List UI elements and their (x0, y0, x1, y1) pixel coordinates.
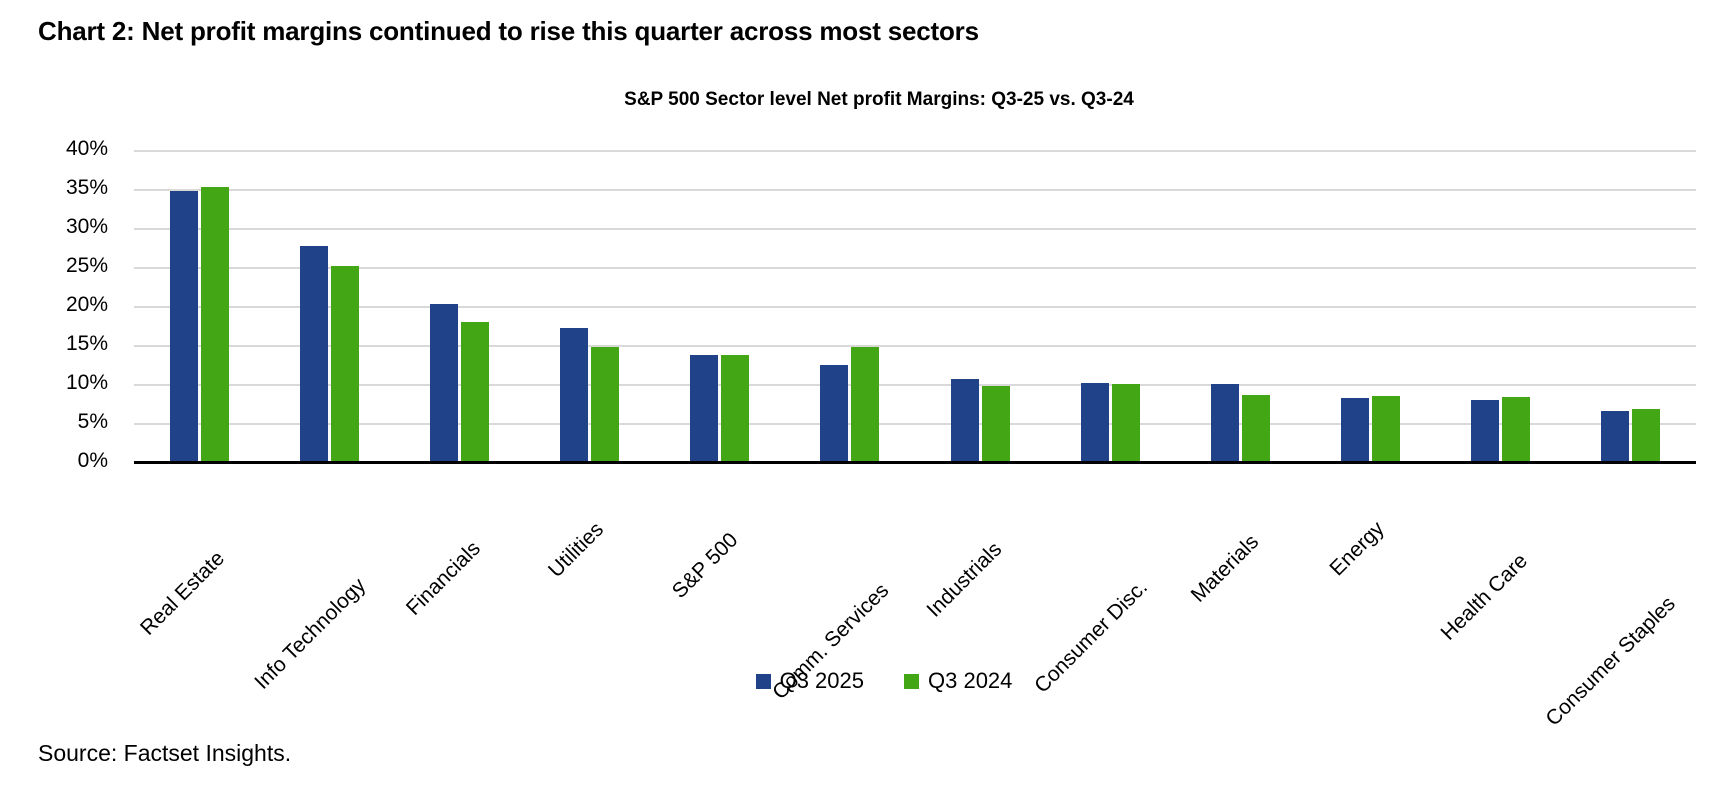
x-axis-line (134, 461, 1696, 464)
legend-swatch-icon (756, 674, 771, 689)
bar-group (1566, 150, 1696, 462)
bar (1112, 384, 1140, 462)
bar-group (134, 150, 264, 462)
bar (1502, 397, 1530, 462)
x-axis-label-cell: S&P 500 (655, 466, 785, 646)
y-axis-tick-label: 25% (13, 254, 108, 278)
x-axis-label-text: Industrials (922, 538, 1007, 623)
x-axis-labels: Real EstateInfo TechnologyFinancialsUtil… (134, 466, 1696, 646)
bar (1471, 400, 1499, 462)
x-axis-label-cell: Energy (1306, 466, 1436, 646)
x-axis-label-cell: Real Estate (134, 466, 264, 646)
bar (820, 365, 848, 462)
x-axis-label-cell: Comm. Services (785, 466, 915, 646)
x-axis-label-text: Materials (1187, 530, 1264, 607)
x-axis-label-text: Energy (1325, 517, 1389, 581)
bar-group (1045, 150, 1175, 462)
bar-group (785, 150, 915, 462)
x-axis-label-cell: Consumer Disc. (1045, 466, 1175, 646)
bar-group (915, 150, 1045, 462)
bar (951, 379, 979, 462)
y-axis-tick-label: 40% (13, 137, 108, 161)
plot-area: 40%35%30%25%20%15%10%5%0% (134, 150, 1696, 462)
bar-group (264, 150, 394, 462)
bar (1601, 411, 1629, 462)
bar-group (394, 150, 524, 462)
page-headline: Chart 2: Net profit margins continued to… (38, 16, 979, 47)
legend-label: Q3 2025 (780, 668, 864, 694)
y-axis-tick-label: 5% (13, 410, 108, 434)
y-axis-tick-label: 10% (13, 371, 108, 395)
bar (1632, 409, 1660, 462)
y-axis-tick-label: 20% (13, 293, 108, 317)
bar (721, 355, 749, 462)
bar (201, 187, 229, 462)
legend-item[interactable]: Q3 2024 (904, 668, 1012, 694)
bar-group (655, 150, 785, 462)
bar (1211, 384, 1239, 462)
x-axis-label-text: S&P 500 (668, 528, 743, 603)
bar (591, 347, 619, 462)
bar (560, 328, 588, 462)
chart-legend: Q3 2025Q3 2024 (0, 668, 1718, 694)
x-axis-label-cell: Info Technology (264, 466, 394, 646)
bar (331, 266, 359, 462)
bar (1341, 398, 1369, 462)
x-axis-label: Utilities (591, 470, 656, 535)
x-axis-label: Consumer Staples (1664, 470, 1718, 609)
source-note: Source: Factset Insights. (38, 740, 291, 767)
x-axis-label-text: Utilities (544, 518, 609, 583)
bar-group (525, 150, 655, 462)
bar (1081, 383, 1109, 462)
x-axis-label-text: Financials (402, 537, 486, 621)
bar-group (1436, 150, 1566, 462)
legend-item[interactable]: Q3 2025 (756, 668, 864, 694)
x-axis-label-cell: Health Care (1436, 466, 1566, 646)
bar-group (1175, 150, 1305, 462)
y-axis-tick-label: 0% (13, 449, 108, 473)
bar (690, 355, 718, 462)
bar (430, 304, 458, 462)
chart-title: S&P 500 Sector level Net profit Margins:… (0, 89, 1718, 111)
y-axis-tick-label: 35% (13, 176, 108, 200)
bar (982, 386, 1010, 462)
bar (170, 191, 198, 462)
x-axis-label-cell: Materials (1175, 466, 1305, 646)
bar-groups (134, 150, 1696, 462)
legend-label: Q3 2024 (928, 668, 1012, 694)
bar (461, 322, 489, 462)
y-axis-tick-label: 15% (13, 332, 108, 356)
bar-group (1306, 150, 1436, 462)
legend-swatch-icon (904, 674, 919, 689)
bar (1242, 395, 1270, 462)
x-axis-label-cell: Industrials (915, 466, 1045, 646)
y-axis-tick-label: 30% (13, 215, 108, 239)
x-axis-label-text: Real Estate (136, 547, 230, 641)
bar (1372, 396, 1400, 462)
bar (300, 246, 328, 462)
x-axis-label-cell: Utilities (525, 466, 655, 646)
x-axis-label: Energy (1372, 470, 1436, 534)
x-axis-label-cell: Consumer Staples (1566, 466, 1696, 646)
bar (851, 347, 879, 462)
x-axis-label-text: Health Care (1436, 549, 1532, 645)
x-axis-label-cell: Financials (394, 466, 524, 646)
